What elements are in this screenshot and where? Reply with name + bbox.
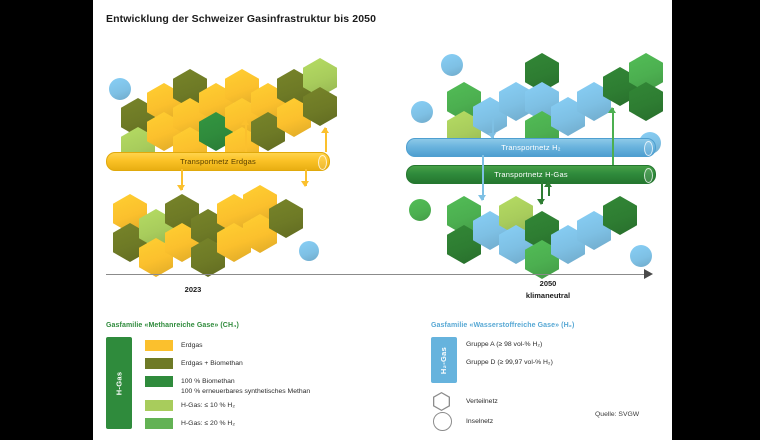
timeline-label-2050: 2050 [493,279,603,288]
legend-inselnetz-circle-icon [433,412,452,431]
legend-shape-label: Verteilnetz [466,397,498,407]
legend-swatch [145,418,173,429]
legend-item-label: H-Gas: ≤ 10 % H₂ [181,401,235,411]
connector-2050-h2-dist-down [482,155,484,200]
connector-2050-h2-dist-down-head-icon [478,195,486,201]
timeline-label-klimaneutral: klimaneutral [493,291,603,300]
legend-item-label: Erdgas + Biomethan [181,359,243,369]
timeline-label-2023: 2023 [153,285,233,294]
timeline-arrow-icon [644,269,653,279]
connector-2050-hgas-dist-down-head-icon [537,199,545,205]
connector-2050-h2-down-head-icon [488,133,496,139]
island-network-circle [630,245,652,267]
legend-swatch [145,400,173,411]
cluster-2050-distribution [403,0,672,280]
connector-2050-hgas-up-head-icon [608,107,616,113]
connector-2023-down-b-head-icon [301,181,309,187]
timeline-axis [106,274,644,275]
legend-h2-vertical-label: H₂-Gas [440,346,449,373]
legend-item-label: Gruppe A (≥ 98 vol-% H₂) [466,340,542,350]
island-network-circle [299,241,319,261]
legend-ch4-vertical-bar: H-Gas [106,337,132,429]
connector-2050-hgas-up [612,108,614,165]
cluster-2023-distribution [103,0,353,280]
island-network-circle [409,199,431,221]
connector-2050-hgas-dist-up-head-icon [544,181,552,187]
legend-item-label: H-Gas: ≤ 20 % H₂ [181,419,235,429]
connector-2023-up-a-head-icon [241,119,249,125]
source-attribution: Quelle: SVGW [595,411,639,418]
infographic-canvas: Entwicklung der Schweizer Gasinfrastrukt… [93,0,672,440]
screenshot-stage: Entwicklung der Schweizer Gasinfrastrukt… [0,0,760,440]
legend-verteilnetz-hexagon-icon [433,392,450,411]
legend-h2-vertical-bar: H₂-Gas [431,337,457,383]
connector-2023-down-a-head-icon [177,185,185,191]
connector-2023-up-b-head-icon [321,127,329,133]
legend-swatch [145,376,173,387]
legend-item-label: Gruppe D (≥ 99,97 vol-% H₂) [466,358,553,368]
legend-shape-label: Inselnetz [466,417,493,427]
legend-item-label: Erdgas [181,341,203,351]
legend-h2-header: Gasfamilie «Wasserstoffreiche Gase» (H₂) [431,322,574,329]
hexagon-inner [434,393,448,409]
legend-ch4-vertical-label: H-Gas [115,371,124,395]
legend-swatch [145,340,173,351]
legend-ch4-header: Gasfamilie «Methanreiche Gase» (CH₄) [106,322,239,329]
legend-item-label: 100 % Biomethan100 % erneuerbares synthe… [181,377,310,396]
legend-swatch [145,358,173,369]
legend-item-label-secondary: 100 % erneuerbares synthetisches Methan [181,388,310,395]
